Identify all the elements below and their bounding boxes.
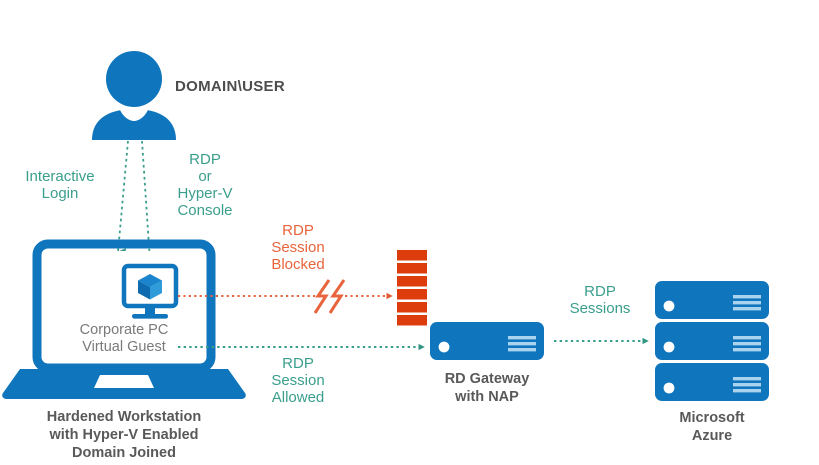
flow-label-rdp-console-line4: Console	[153, 202, 257, 219]
workstation-inner-label: Corporate PC Virtual Guest	[64, 322, 184, 356]
flow-label-rdp-sessions: RDP Sessions	[552, 283, 648, 317]
flow-label-interactive-login-line2: Login	[8, 185, 112, 202]
flow-label-rdp-allowed-line1: RDP	[243, 355, 353, 372]
workstation-caption-line3: Domain Joined	[18, 444, 230, 462]
flow-label-rdp-blocked-line2: Session	[243, 239, 353, 256]
gateway-caption: RD Gateway with NAP	[424, 370, 550, 406]
flow-label-rdp-allowed: RDP Session Allowed	[243, 355, 353, 406]
flow-label-interactive-login: Interactive Login	[8, 168, 112, 202]
flow-label-rdp-allowed-line2: Session	[243, 372, 353, 389]
flow-label-rdp-hyperv-console: RDP or Hyper-V Console	[153, 151, 257, 219]
azure-caption-line1: Microsoft	[649, 409, 775, 427]
flow-label-rdp-console-line2: or	[153, 168, 257, 185]
flow-label-rdp-sessions-line1: RDP	[552, 283, 648, 300]
azure-caption-line2: Azure	[649, 427, 775, 445]
workstation-inner-label-line2: Virtual Guest	[64, 339, 184, 356]
flow-label-rdp-sessions-line2: Sessions	[552, 300, 648, 317]
connection-break-icon	[315, 280, 344, 313]
flow-label-interactive-login-line1: Interactive	[8, 168, 112, 185]
flow-label-rdp-console-line3: Hyper-V	[153, 185, 257, 202]
diagram-artwork	[0, 0, 819, 465]
workstation-inner-label-line1: Corporate PC	[64, 322, 184, 339]
flow-label-rdp-blocked-line3: Blocked	[243, 256, 353, 273]
user-avatar-icon	[92, 51, 176, 140]
azure-server-stack-icon	[655, 281, 769, 401]
gateway-caption-line2: with NAP	[424, 388, 550, 406]
flow-label-rdp-blocked-line1: RDP	[243, 222, 353, 239]
azure-caption: Microsoft Azure	[649, 409, 775, 445]
diagram-canvas: DOMAIN\USER Interactive Login RDP or Hyp…	[0, 0, 819, 465]
flow-interactive-login	[118, 141, 128, 252]
workstation-caption: Hardened Workstation with Hyper-V Enable…	[18, 408, 230, 462]
rd-gateway-server-icon	[430, 322, 544, 360]
firewall-brick-wall-icon	[397, 250, 427, 326]
flow-label-rdp-allowed-line3: Allowed	[243, 389, 353, 406]
flow-label-rdp-console-line1: RDP	[153, 151, 257, 168]
gateway-caption-line1: RD Gateway	[424, 370, 550, 388]
workstation-caption-line2: with Hyper-V Enabled	[18, 426, 230, 444]
user-label: DOMAIN\USER	[175, 78, 285, 95]
workstation-caption-line1: Hardened Workstation	[18, 408, 230, 426]
flow-label-rdp-blocked: RDP Session Blocked	[243, 222, 353, 273]
